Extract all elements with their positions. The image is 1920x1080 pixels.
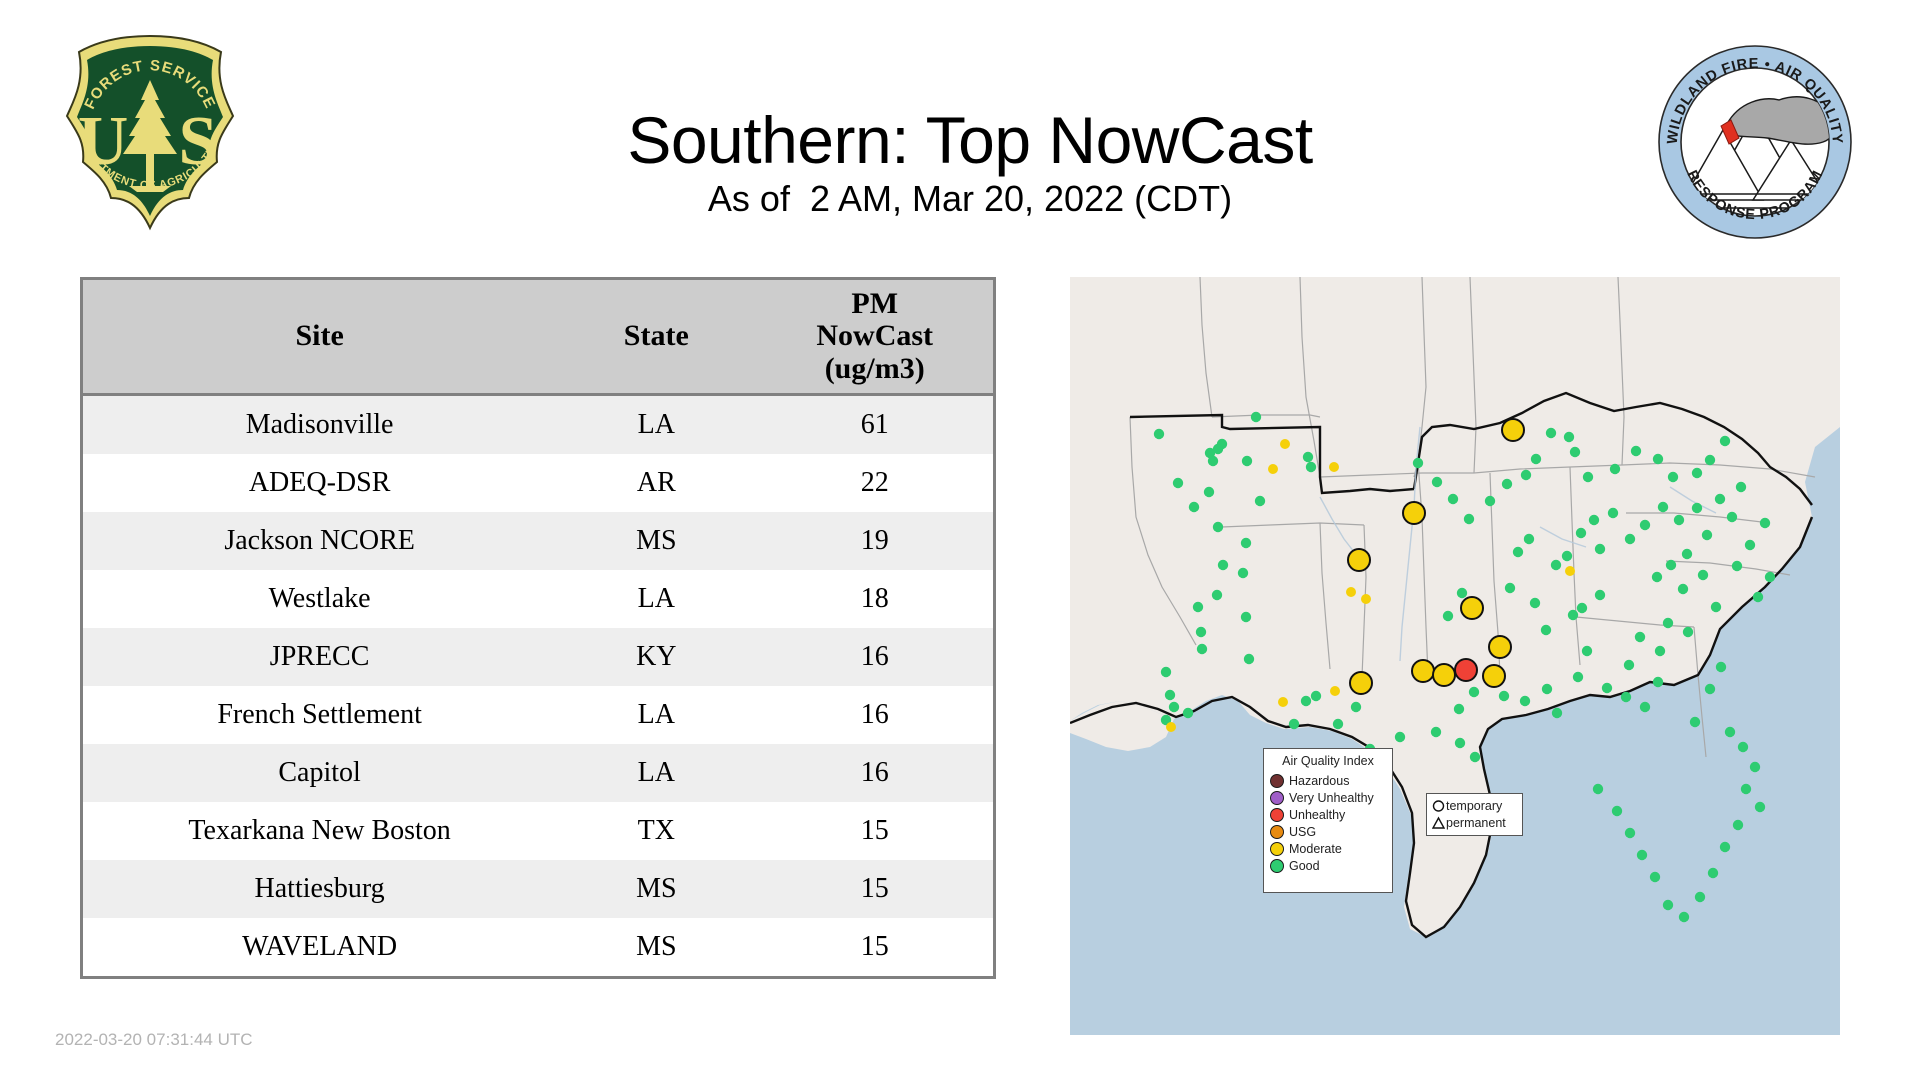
map-marker-good[interactable] — [1455, 738, 1465, 748]
map-marker-good[interactable] — [1692, 468, 1702, 478]
map-marker-good[interactable] — [1732, 561, 1742, 571]
aqi-legend: Air Quality Index HazardousVery Unhealth… — [1263, 748, 1393, 893]
map-marker-good[interactable] — [1631, 446, 1641, 456]
page-subtitle: As of 2 AM, Mar 20, 2022 (CDT) — [300, 178, 1640, 220]
map-marker-good[interactable] — [1755, 802, 1765, 812]
map-marker-good[interactable] — [1530, 598, 1540, 608]
map-marker-good[interactable] — [1531, 454, 1541, 464]
map-marker-moderate[interactable] — [1166, 722, 1176, 732]
table-row[interactable]: WAVELANDMS15 — [83, 918, 993, 976]
cell-state: MS — [556, 860, 756, 918]
cell-state: LA — [556, 744, 756, 802]
map-marker-good[interactable] — [1546, 428, 1556, 438]
table-row[interactable]: Jackson NCOREMS19 — [83, 512, 993, 570]
site-type-temporary-label: temporary — [1446, 799, 1502, 813]
map-marker-good[interactable] — [1679, 912, 1689, 922]
forest-service-shield-icon: FOREST SERVICE DEPARTMENT OF AGRICULTURE… — [55, 32, 245, 232]
map-marker-good[interactable] — [1351, 702, 1361, 712]
table-row[interactable]: JPRECCKY16 — [83, 628, 993, 686]
map-marker-good[interactable] — [1678, 584, 1688, 594]
map-marker-good[interactable] — [1625, 534, 1635, 544]
cell-state: LA — [556, 395, 756, 455]
map-marker-good[interactable] — [1524, 534, 1534, 544]
map-marker-moderate[interactable] — [1330, 686, 1340, 696]
map-marker-moderate[interactable] — [1403, 502, 1425, 524]
table-row[interactable]: ADEQ-DSRAR22 — [83, 454, 993, 512]
map-marker-good[interactable] — [1197, 644, 1207, 654]
map-marker-good[interactable] — [1470, 752, 1480, 762]
map-marker-good[interactable] — [1733, 820, 1743, 830]
map-marker-good[interactable] — [1612, 806, 1622, 816]
table-row[interactable]: Texarkana New BostonTX15 — [83, 802, 993, 860]
cell-pm-nowcast: 18 — [756, 570, 993, 628]
table-row[interactable]: WestlakeLA18 — [83, 570, 993, 628]
map-marker-good[interactable] — [1311, 691, 1321, 701]
aqi-legend-label: USG — [1289, 825, 1316, 839]
map-marker-good[interactable] — [1502, 479, 1512, 489]
map-marker-good[interactable] — [1301, 696, 1311, 706]
map-marker-good[interactable] — [1705, 455, 1715, 465]
triangle-icon — [1431, 816, 1446, 830]
cell-site: Capitol — [83, 744, 556, 802]
map-marker-good[interactable] — [1251, 412, 1261, 422]
map-marker-good[interactable] — [1212, 590, 1222, 600]
aqi-legend-title: Air Quality Index — [1270, 754, 1386, 768]
map-marker-good[interactable] — [1570, 447, 1580, 457]
map-marker-good[interactable] — [1624, 660, 1634, 670]
table-row[interactable]: HattiesburgMS15 — [83, 860, 993, 918]
map-marker-good[interactable] — [1695, 892, 1705, 902]
map-marker-moderate[interactable] — [1329, 462, 1339, 472]
aqi-legend-items: HazardousVery UnhealthyUnhealthyUSGModer… — [1270, 772, 1386, 874]
map-marker-good[interactable] — [1715, 494, 1725, 504]
map-marker-good[interactable] — [1608, 508, 1618, 518]
cell-site: French Settlement — [83, 686, 556, 744]
map-marker-good[interactable] — [1303, 452, 1313, 462]
cell-state: AR — [556, 454, 756, 512]
map-marker-good[interactable] — [1674, 515, 1684, 525]
map-marker-unhealthy[interactable] — [1455, 659, 1477, 681]
map-marker-good[interactable] — [1395, 732, 1405, 742]
cell-state: TX — [556, 802, 756, 860]
map-marker-good[interactable] — [1413, 458, 1423, 468]
nowcast-table: Site State PM NowCast (ug/m3) Madisonvil… — [83, 280, 993, 976]
map-marker-good[interactable] — [1582, 646, 1592, 656]
map-marker-unhealthy[interactable] — [1483, 665, 1505, 687]
map-marker-good[interactable] — [1655, 646, 1665, 656]
cell-pm-nowcast: 19 — [756, 512, 993, 570]
map-marker-good[interactable] — [1218, 560, 1228, 570]
map-marker-good[interactable] — [1736, 482, 1746, 492]
map-marker-good[interactable] — [1658, 502, 1668, 512]
cell-state: LA — [556, 570, 756, 628]
map-marker-good[interactable] — [1698, 570, 1708, 580]
map-marker-good[interactable] — [1745, 540, 1755, 550]
cell-site: Jackson NCORE — [83, 512, 556, 570]
map-marker-good[interactable] — [1457, 588, 1467, 598]
map-marker-good[interactable] — [1653, 677, 1663, 687]
map-marker-good[interactable] — [1551, 560, 1561, 570]
map-marker-good[interactable] — [1485, 496, 1495, 506]
site-type-permanent-label: permanent — [1446, 816, 1506, 830]
map-marker-good[interactable] — [1589, 515, 1599, 525]
map-marker-moderate[interactable] — [1489, 636, 1511, 658]
map-marker-good[interactable] — [1189, 502, 1199, 512]
map-marker-good[interactable] — [1165, 690, 1175, 700]
map-marker-good[interactable] — [1513, 547, 1523, 557]
site-type-permanent: permanent — [1431, 814, 1518, 831]
map-marker-good[interactable] — [1583, 472, 1593, 482]
aqi-legend-row: Good — [1270, 857, 1386, 874]
cell-site: Texarkana New Boston — [83, 802, 556, 860]
map-marker-good[interactable] — [1593, 784, 1603, 794]
map-marker-good[interactable] — [1196, 627, 1206, 637]
map-marker-good[interactable] — [1568, 610, 1578, 620]
table-row[interactable]: MadisonvilleLA61 — [83, 395, 993, 455]
map-marker-moderate[interactable] — [1502, 419, 1524, 441]
map-marker-moderate[interactable] — [1348, 549, 1370, 571]
map-marker-good[interactable] — [1621, 692, 1631, 702]
map-marker-good[interactable] — [1564, 432, 1574, 442]
cell-pm-nowcast: 61 — [756, 395, 993, 455]
map-marker-good[interactable] — [1208, 456, 1218, 466]
site-type-legend: temporary permanent — [1426, 793, 1523, 836]
map-marker-good[interactable] — [1562, 551, 1572, 561]
map-marker-good[interactable] — [1708, 868, 1718, 878]
map-marker-good[interactable] — [1289, 719, 1299, 729]
aqi-legend-row: Hazardous — [1270, 772, 1386, 789]
table-body: MadisonvilleLA61ADEQ-DSRAR22Jackson NCOR… — [83, 395, 993, 977]
aqi-legend-row: USG — [1270, 823, 1386, 840]
map-marker-good[interactable] — [1595, 590, 1605, 600]
map-marker-good[interactable] — [1668, 472, 1678, 482]
map-marker-good[interactable] — [1663, 900, 1673, 910]
map-marker-good[interactable] — [1242, 456, 1252, 466]
map-marker-good[interactable] — [1760, 518, 1770, 528]
map-marker-good[interactable] — [1213, 522, 1223, 532]
map-marker-good[interactable] — [1541, 625, 1551, 635]
map-marker-good[interactable] — [1443, 611, 1453, 621]
map-marker-good[interactable] — [1610, 464, 1620, 474]
cell-state: KY — [556, 628, 756, 686]
aqi-swatch-icon — [1270, 825, 1284, 839]
aqi-swatch-icon — [1270, 859, 1284, 873]
map-marker-moderate[interactable] — [1346, 587, 1356, 597]
map-marker-good[interactable] — [1692, 503, 1702, 513]
cell-state: MS — [556, 918, 756, 976]
map-marker-moderate[interactable] — [1461, 597, 1483, 619]
page-header: FOREST SERVICE DEPARTMENT OF AGRICULTURE… — [0, 0, 1920, 270]
map-marker-good[interactable] — [1520, 696, 1530, 706]
map-marker-good[interactable] — [1663, 618, 1673, 628]
map-marker-moderate[interactable] — [1361, 594, 1371, 604]
map-marker-moderate[interactable] — [1350, 672, 1372, 694]
air-quality-map[interactable]: Air Quality Index HazardousVery Unhealth… — [1070, 277, 1840, 1035]
column-header-state[interactable]: State — [556, 280, 756, 395]
map-marker-good[interactable] — [1625, 828, 1635, 838]
map-marker-good[interactable] — [1716, 662, 1726, 672]
map-marker-good[interactable] — [1576, 528, 1586, 538]
cell-pm-nowcast: 22 — [756, 454, 993, 512]
map-marker-good[interactable] — [1173, 478, 1183, 488]
table-row[interactable]: French SettlementLA16 — [83, 686, 993, 744]
map-marker-good[interactable] — [1720, 436, 1730, 446]
map-marker-good[interactable] — [1725, 727, 1735, 737]
map-marker-good[interactable] — [1653, 454, 1663, 464]
map-marker-good[interactable] — [1741, 784, 1751, 794]
aqi-legend-row: Moderate — [1270, 840, 1386, 857]
map-marker-moderate[interactable] — [1278, 697, 1288, 707]
aqi-legend-label: Good — [1289, 859, 1320, 873]
table-header: Site State PM NowCast (ug/m3) — [83, 280, 993, 395]
map-marker-good[interactable] — [1469, 687, 1479, 697]
map-marker-good[interactable] — [1690, 717, 1700, 727]
map-canvas — [1070, 277, 1840, 1035]
cell-site: Hattiesburg — [83, 860, 556, 918]
map-marker-good[interactable] — [1602, 683, 1612, 693]
map-marker-good[interactable] — [1640, 702, 1650, 712]
map-marker-good[interactable] — [1432, 477, 1442, 487]
table-row[interactable]: CapitolLA16 — [83, 744, 993, 802]
map-marker-good[interactable] — [1193, 602, 1203, 612]
map-marker-good[interactable] — [1161, 667, 1171, 677]
map-marker-good[interactable] — [1521, 470, 1531, 480]
table-header-row: Site State PM NowCast (ug/m3) — [83, 280, 993, 395]
map-marker-moderate[interactable] — [1565, 566, 1575, 576]
aqi-swatch-icon — [1270, 808, 1284, 822]
aqi-legend-row: Very Unhealthy — [1270, 789, 1386, 806]
cell-state: LA — [556, 686, 756, 744]
map-marker-good[interactable] — [1306, 462, 1316, 472]
aqi-legend-row: Unhealthy — [1270, 806, 1386, 823]
map-marker-good[interactable] — [1499, 691, 1509, 701]
map-marker-good[interactable] — [1753, 592, 1763, 602]
map-marker-good[interactable] — [1711, 602, 1721, 612]
map-marker-good[interactable] — [1464, 514, 1474, 524]
circle-icon — [1431, 799, 1446, 813]
map-marker-good[interactable] — [1505, 583, 1515, 593]
map-marker-good[interactable] — [1183, 708, 1193, 718]
map-marker-moderate[interactable] — [1412, 660, 1434, 682]
map-marker-good[interactable] — [1702, 530, 1712, 540]
cell-pm-nowcast: 15 — [756, 918, 993, 976]
cell-pm-nowcast: 16 — [756, 686, 993, 744]
aqi-legend-label: Very Unhealthy — [1289, 791, 1374, 805]
map-marker-good[interactable] — [1552, 708, 1562, 718]
map-marker-good[interactable] — [1542, 684, 1552, 694]
map-marker-good[interactable] — [1650, 872, 1660, 882]
aqi-swatch-icon — [1270, 774, 1284, 788]
map-marker-good[interactable] — [1154, 429, 1164, 439]
page-title: Southern: Top NowCast — [300, 102, 1640, 178]
map-marker-moderate[interactable] — [1433, 664, 1455, 686]
cell-site: Westlake — [83, 570, 556, 628]
map-marker-good[interactable] — [1204, 487, 1214, 497]
map-marker-good[interactable] — [1635, 632, 1645, 642]
cell-pm-nowcast: 15 — [756, 860, 993, 918]
aqi-legend-label: Moderate — [1289, 842, 1342, 856]
map-marker-good[interactable] — [1255, 496, 1265, 506]
map-marker-good[interactable] — [1652, 572, 1662, 582]
cell-site: Madisonville — [83, 395, 556, 455]
map-marker-good[interactable] — [1720, 842, 1730, 852]
cell-pm-nowcast: 16 — [756, 628, 993, 686]
column-header-site[interactable]: Site — [83, 280, 556, 395]
map-marker-good[interactable] — [1738, 742, 1748, 752]
svg-text:S: S — [179, 103, 218, 180]
map-marker-good[interactable] — [1750, 762, 1760, 772]
aqi-legend-label: Hazardous — [1289, 774, 1349, 788]
map-marker-good[interactable] — [1640, 520, 1650, 530]
map-marker-moderate[interactable] — [1268, 464, 1278, 474]
map-marker-good[interactable] — [1169, 702, 1179, 712]
map-marker-good[interactable] — [1448, 494, 1458, 504]
map-marker-good[interactable] — [1595, 544, 1605, 554]
map-marker-good[interactable] — [1727, 512, 1737, 522]
map-marker-moderate[interactable] — [1280, 439, 1290, 449]
map-marker-good[interactable] — [1573, 672, 1583, 682]
aqi-legend-label: Unhealthy — [1289, 808, 1345, 822]
column-header-pm-nowcast[interactable]: PM NowCast (ug/m3) — [756, 280, 993, 395]
nowcast-table-panel: Site State PM NowCast (ug/m3) Madisonvil… — [80, 277, 996, 979]
cell-site: WAVELAND — [83, 918, 556, 976]
site-type-temporary: temporary — [1431, 797, 1518, 814]
aqi-swatch-icon — [1270, 842, 1284, 856]
map-marker-good[interactable] — [1333, 719, 1343, 729]
cell-site: ADEQ-DSR — [83, 454, 556, 512]
map-marker-good[interactable] — [1454, 704, 1464, 714]
map-marker-good[interactable] — [1241, 538, 1251, 548]
map-marker-good[interactable] — [1577, 603, 1587, 613]
footer-timestamp: 2022-03-20 07:31:44 UTC — [55, 1030, 253, 1050]
wildland-fire-air-quality-program-icon: WILDLAND FIRE • AIR QUALITY RESPONSE PRO… — [1655, 42, 1855, 242]
cell-pm-nowcast: 16 — [756, 744, 993, 802]
cell-site: JPRECC — [83, 628, 556, 686]
map-marker-good[interactable] — [1682, 549, 1692, 559]
map-marker-good[interactable] — [1683, 627, 1693, 637]
cell-pm-nowcast: 15 — [756, 802, 993, 860]
cell-state: MS — [556, 512, 756, 570]
map-marker-good[interactable] — [1431, 727, 1441, 737]
map-marker-good[interactable] — [1705, 684, 1715, 694]
map-marker-good[interactable] — [1666, 560, 1676, 570]
aqi-swatch-icon — [1270, 791, 1284, 805]
svg-text:U: U — [78, 103, 129, 180]
map-marker-good[interactable] — [1637, 850, 1647, 860]
map-marker-good[interactable] — [1238, 568, 1248, 578]
map-marker-good[interactable] — [1244, 654, 1254, 664]
map-marker-good[interactable] — [1765, 572, 1775, 582]
map-marker-good[interactable] — [1241, 612, 1251, 622]
